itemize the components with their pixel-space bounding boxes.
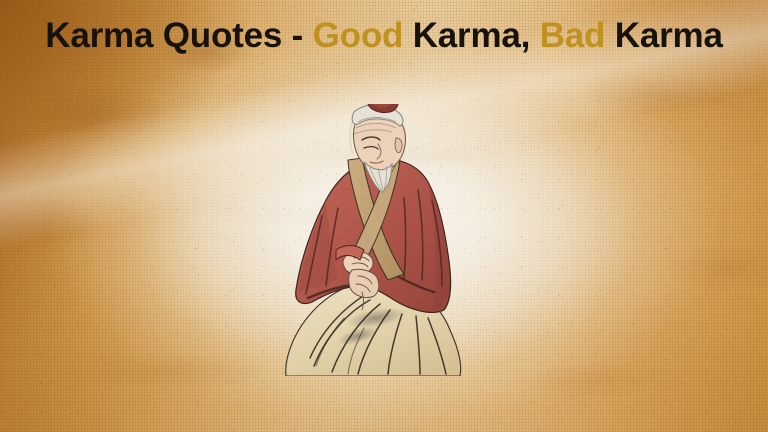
title-segment-bad: Bad	[540, 16, 606, 55]
title-segment-5: Karma	[605, 16, 722, 55]
title-segment-1: Karma Quotes -	[45, 16, 312, 55]
karma-quotes-poster: Karma Quotes - Good Karma, Bad Karma	[0, 0, 768, 432]
title-segment-good: Good	[313, 16, 404, 55]
title-segment-3: Karma,	[403, 16, 540, 55]
page-title: Karma Quotes - Good Karma, Bad Karma	[18, 14, 750, 58]
poster-title-block: Karma Quotes - Good Karma, Bad Karma	[0, 14, 768, 58]
seated-sage-illustration	[270, 104, 498, 376]
